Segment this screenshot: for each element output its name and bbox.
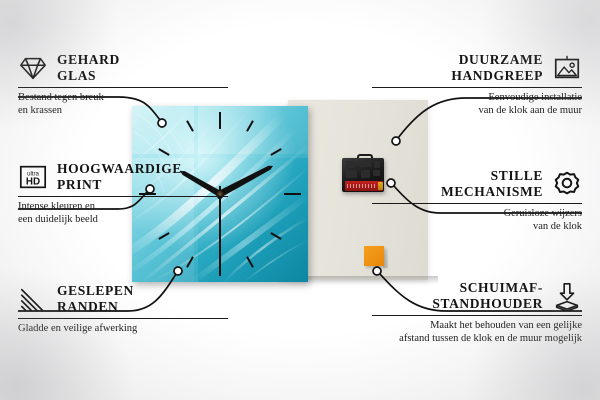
feature-title: HOOGWAARDIGE PRINT [57,161,182,192]
feature-title: DUURZAME HANDGREEP [451,52,543,83]
divider [18,318,228,319]
feature-header: DUURZAME HANDGREEP [372,52,582,83]
divider [372,203,582,204]
infographic-canvas: GEHARD GLAS Bestand tegen breuk en krass… [0,0,600,400]
feature-description: Maakt het behouden van een gelijke afsta… [372,320,582,345]
feature-description: Eenvoudige installatie van de klok aan d… [372,92,582,117]
feature-title: GESLEPEN RANDEN [57,283,134,314]
diamond-icon [18,53,48,83]
foam-pad-down-arrow-icon [552,281,582,311]
picture-frame-icon [552,53,582,83]
beveled-edges-icon [18,284,48,314]
feature-description: Bestand tegen breuk en krassen [18,92,228,117]
feature-stille-mechanisme: STILLE MECHANISME Geruisloze wijzers van… [372,168,582,233]
divider [18,87,228,88]
feature-hoogwaardige-print: ultra HD HOOGWAARDIGE PRINT Intense kleu… [18,161,228,226]
feature-title: STILLE MECHANISME [441,168,543,199]
ultra-hd-icon: ultra HD [18,162,48,192]
feature-geslepen-randen: GESLEPEN RANDEN Gladde en veilige afwerk… [18,283,228,336]
gear-icon [552,169,582,199]
feature-header: GESLEPEN RANDEN [18,283,228,314]
feature-gehard-glas: GEHARD GLAS Bestand tegen breuk en krass… [18,52,228,117]
feature-header: ultra HD HOOGWAARDIGE PRINT [18,161,228,192]
divider [372,315,582,316]
ultra-hd-icon-bottom-label: HD [26,176,40,187]
feature-schuimafstandhouder: SCHUIMAF- STANDHOUDER Maakt het behouden… [372,280,582,345]
feature-title: GEHARD GLAS [57,52,120,83]
feature-header: GEHARD GLAS [18,52,228,83]
feature-description: Intense kleuren en een duidelijk beeld [18,201,228,226]
feature-description: Geruisloze wijzers van de klok [372,208,582,233]
foam-spacer-pad [364,246,384,266]
feature-duurzame-handgreep: DUURZAME HANDGREEP Eenvoudige installati… [372,52,582,117]
battery-label [347,184,375,188]
feature-header: STILLE MECHANISME [372,168,582,199]
divider [372,87,582,88]
divider [18,196,228,197]
feature-description: Gladde en veilige afwerking [18,323,228,335]
feature-title: SCHUIMAF- STANDHOUDER [432,280,543,311]
feature-header: SCHUIMAF- STANDHOUDER [372,280,582,311]
